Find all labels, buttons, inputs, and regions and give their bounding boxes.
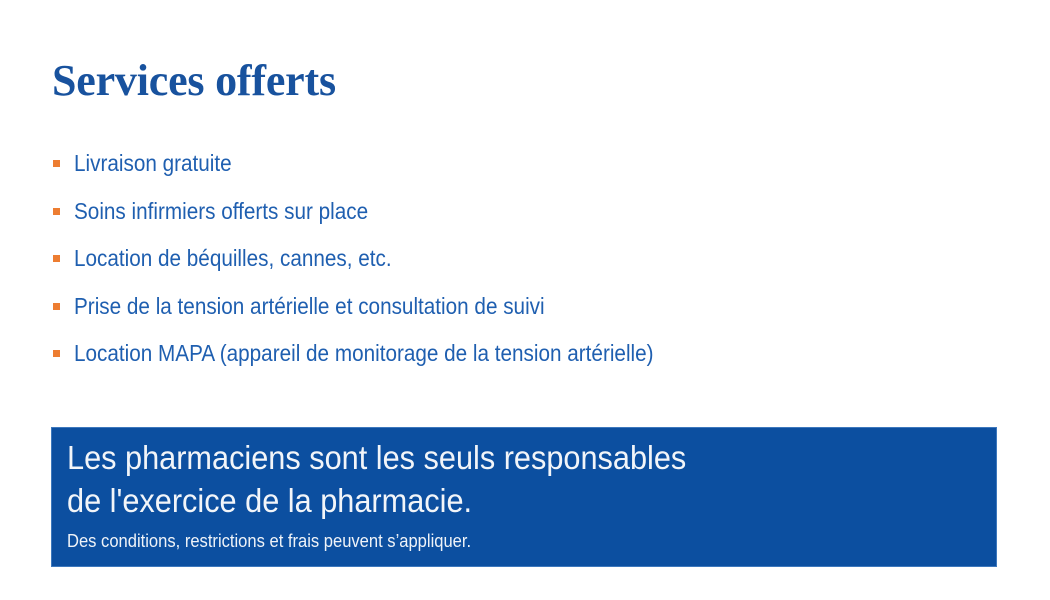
callout-subtext: Des conditions, restrictions et frais pe… [67,529,471,553]
services-bullet-list: Livraison gratuite Soins infirmiers offe… [52,140,992,378]
list-item: Soins infirmiers offerts sur place [52,188,992,236]
square-bullet-icon [53,208,60,215]
square-bullet-icon [53,303,60,310]
slide-canvas: Services offerts Livraison gratuite Soin… [0,0,1050,600]
list-item-label: Prise de la tension artérielle et consul… [74,295,545,318]
callout-main-text: Les pharmaciens sont les seuls responsab… [67,436,913,522]
list-item: Location de béquilles, cannes, etc. [52,235,992,283]
callout-line-2: de l'exercice de la pharmacie. [67,479,913,522]
list-item: Prise de la tension artérielle et consul… [52,283,992,331]
square-bullet-icon [53,255,60,262]
list-item-label: Soins infirmiers offerts sur place [74,200,368,223]
page-title: Services offerts [52,58,336,104]
list-item-label: Location MAPA (appareil de monitorage de… [74,342,654,365]
list-item: Location MAPA (appareil de monitorage de… [52,330,992,378]
disclaimer-callout-box: Les pharmaciens sont les seuls responsab… [52,428,996,566]
list-item: Livraison gratuite [52,140,992,188]
callout-line-1: Les pharmaciens sont les seuls responsab… [67,436,913,479]
list-item-label: Location de béquilles, cannes, etc. [74,247,392,270]
square-bullet-icon [53,350,60,357]
square-bullet-icon [53,160,60,167]
list-item-label: Livraison gratuite [74,152,232,175]
